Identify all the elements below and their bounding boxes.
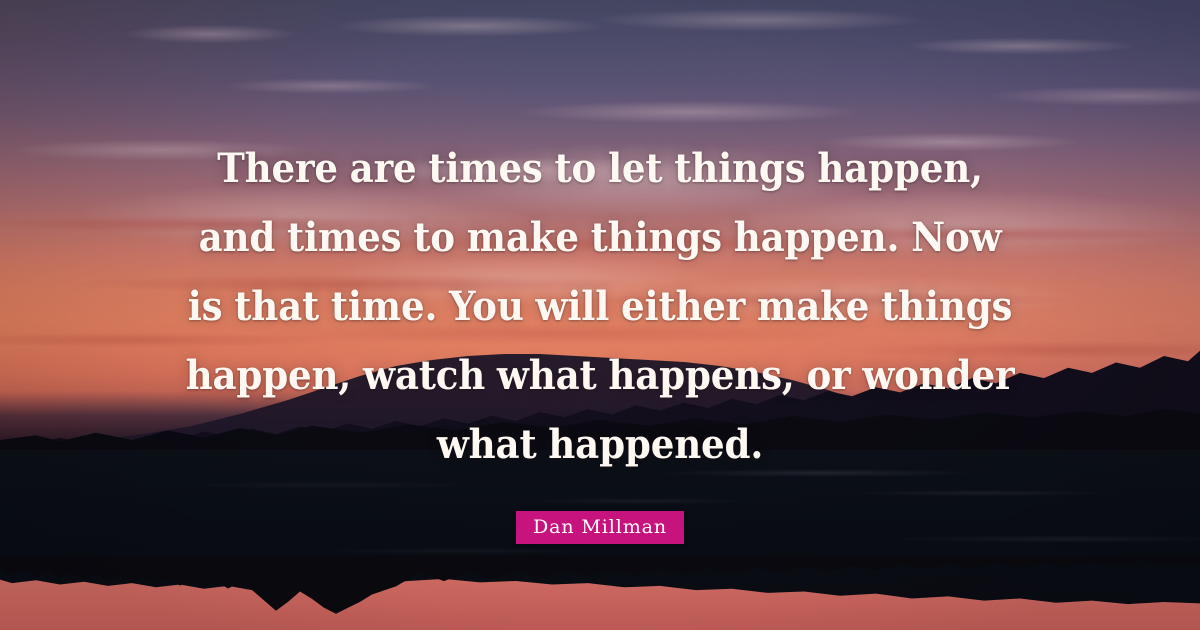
- quote-text: There are times to let things happen, an…: [182, 134, 1019, 479]
- quote-card: There are times to let things happen, an…: [0, 0, 1200, 630]
- author-badge: Dan Millman: [516, 511, 684, 544]
